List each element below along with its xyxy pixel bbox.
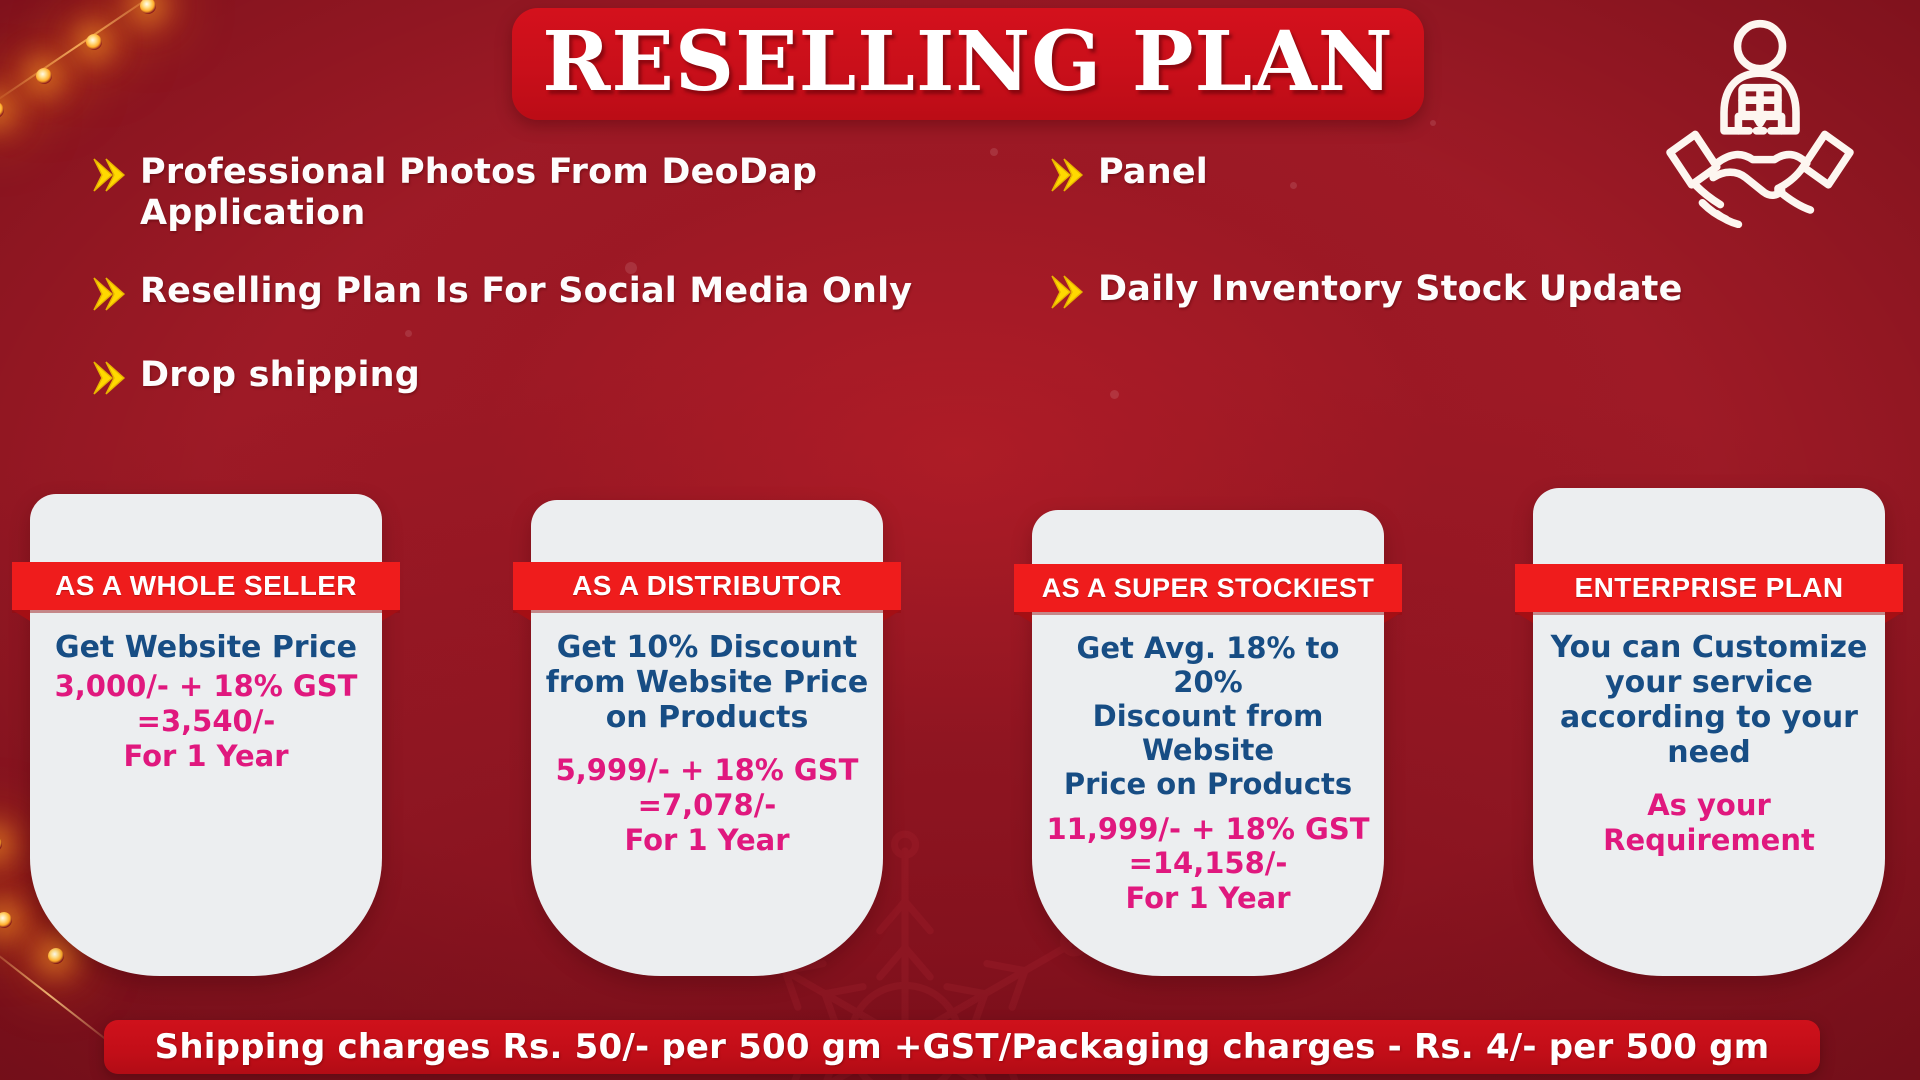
feature-item: Panel (1050, 152, 1840, 194)
plan-price: As your Requirement (1547, 788, 1871, 858)
feature-item: Daily Inventory Stock Update (1050, 269, 1840, 311)
features-column-right: Panel Daily Inventory Stock Update (1050, 152, 1840, 347)
footer-note-banner: Shipping charges Rs. 50/- per 500 gm +GS… (104, 1020, 1820, 1074)
plan-ribbon-label: AS A SUPER STOCKIEST (1042, 573, 1375, 604)
plan-heading: Get Avg. 18% to 20% Discount from Websit… (1046, 632, 1370, 802)
plan-ribbon: ENTERPRISE PLAN (1515, 564, 1903, 612)
plan-ribbon: AS A DISTRIBUTOR (513, 562, 901, 610)
chevron-right-icon (92, 156, 126, 194)
plan-card-whole-seller[interactable]: AS A WHOLE SELLER Get Website Price 3,00… (30, 494, 382, 976)
plan-body: Get Avg. 18% to 20% Discount from Websit… (1032, 588, 1384, 942)
feature-label: Drop shipping (140, 355, 420, 396)
feature-label: Panel (1098, 152, 1208, 193)
plan-ribbon-label: AS A WHOLE SELLER (55, 570, 357, 602)
plan-ribbon-label: ENTERPRISE PLAN (1575, 572, 1844, 604)
plan-heading: You can Customize your service according… (1547, 630, 1871, 770)
plan-body: You can Customize your service according… (1533, 566, 1885, 884)
plan-ribbon-label: AS A DISTRIBUTOR (572, 570, 842, 602)
feature-item: Drop shipping (92, 355, 982, 397)
feature-item: Professional Photos From DeoDap Applicat… (92, 152, 982, 235)
page-title: RESELLING PLAN (542, 21, 1393, 103)
chevron-right-icon (1050, 156, 1084, 194)
plan-heading: Get Website Price (44, 630, 368, 665)
feature-label: Professional Photos From DeoDap Applicat… (140, 152, 982, 235)
plan-card-distributor[interactable]: AS A DISTRIBUTOR Get 10% Discount from W… (531, 500, 883, 976)
footer-note: Shipping charges Rs. 50/- per 500 gm +GS… (155, 1027, 1770, 1067)
plan-price: 5,999/- + 18% GST =7,078/- For 1 Year (545, 753, 869, 857)
plan-price: 3,000/- + 18% GST =3,540/- For 1 Year (44, 669, 368, 773)
plan-ribbon: AS A WHOLE SELLER (12, 562, 400, 610)
feature-label: Daily Inventory Stock Update (1098, 269, 1683, 310)
chevron-right-icon (92, 275, 126, 313)
background-speck (1110, 390, 1119, 399)
plan-body: Get 10% Discount from Website Price on P… (531, 578, 883, 884)
features-column-left: Professional Photos From DeoDap Applicat… (92, 152, 982, 433)
background-speck (990, 148, 998, 156)
background-speck (1430, 120, 1436, 126)
page-title-banner: RESELLING PLAN (512, 8, 1424, 120)
chevron-right-icon (92, 359, 126, 397)
plan-price: 11,999/- + 18% GST =14,158/- For 1 Year (1046, 812, 1370, 916)
feature-item: Reselling Plan Is For Social Media Only (92, 271, 982, 313)
chevron-right-icon (1050, 273, 1084, 311)
plan-card-enterprise[interactable]: ENTERPRISE PLAN You can Customize your s… (1533, 488, 1885, 976)
plan-ribbon: AS A SUPER STOCKIEST (1014, 564, 1402, 612)
feature-label: Reselling Plan Is For Social Media Only (140, 271, 912, 312)
plan-heading: Get 10% Discount from Website Price on P… (545, 630, 869, 735)
plan-card-super-stockiest[interactable]: AS A SUPER STOCKIEST Get Avg. 18% to 20%… (1032, 510, 1384, 976)
plans-section: AS A WHOLE SELLER Get Website Price 3,00… (0, 488, 1920, 1000)
